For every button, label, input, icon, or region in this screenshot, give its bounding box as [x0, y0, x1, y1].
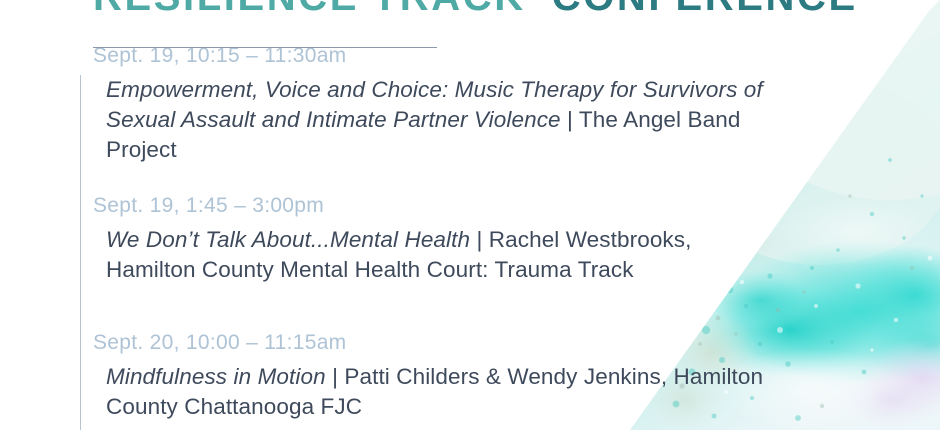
session-title: We Don’t Talk About...Mental Health	[106, 227, 470, 252]
session-details: Mindfulness in Motion | Patti Childers &…	[106, 362, 786, 422]
page-title-track: RESILIENCE TRACK	[93, 0, 526, 19]
page-title-conference: CONFERENCE	[552, 0, 858, 19]
session-separator: |	[470, 227, 489, 252]
session-details: Empowerment, Voice and Choice: Music The…	[106, 75, 786, 165]
session-time: Sept. 19, 1:45 – 3:00pm	[93, 194, 324, 218]
session-separator: |	[326, 364, 345, 389]
schedule-vertical-rule	[80, 75, 81, 430]
session-details: We Don’t Talk About...Mental Health | Ra…	[106, 225, 786, 285]
title-underline-rule	[93, 47, 437, 48]
session-time: Sept. 20, 10:00 – 11:15am	[93, 331, 346, 355]
conference-schedule-page: RESILIENCE TRACKCONFERENCE Sept. 19, 10:…	[0, 0, 940, 430]
session-title: Mindfulness in Motion	[106, 364, 326, 389]
session-separator: |	[561, 107, 579, 132]
page-header: RESILIENCE TRACKCONFERENCE	[0, 0, 940, 22]
page-title: RESILIENCE TRACKCONFERENCE	[93, 0, 858, 20]
